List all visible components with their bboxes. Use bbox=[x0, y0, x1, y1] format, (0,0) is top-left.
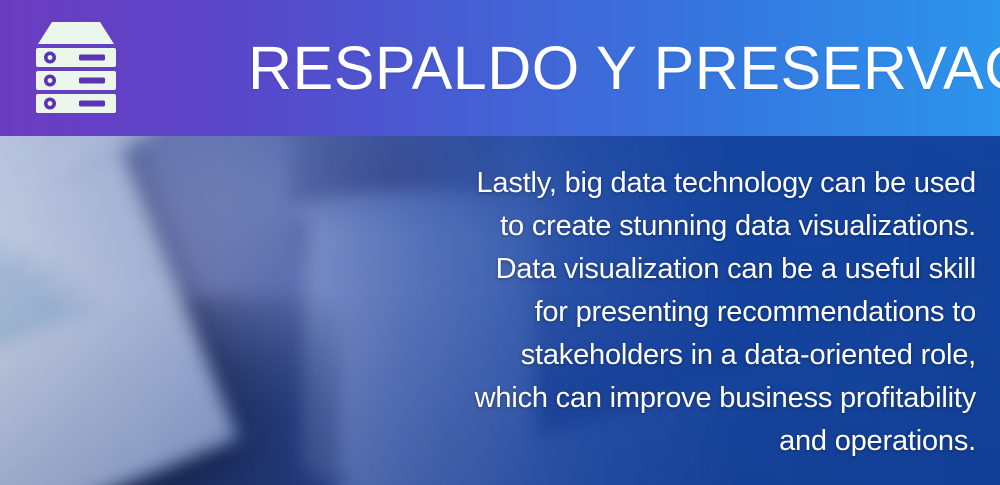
paragraph-line: stakeholders in a data-oriented role, bbox=[376, 334, 976, 377]
body-paragraph: Lastly, big data technology can be used … bbox=[376, 162, 976, 463]
paragraph-line: which can improve business profitability bbox=[376, 377, 976, 420]
content-area: Lastly, big data technology can be used … bbox=[0, 136, 1000, 485]
paragraph-line: Lastly, big data technology can be used bbox=[376, 162, 976, 205]
server-stack-icon bbox=[24, 18, 128, 118]
paragraph-line: to create stunning data visualizations. bbox=[376, 205, 976, 248]
page-title: RESPALDO Y PRESERVACIÓN bbox=[248, 0, 1000, 136]
paragraph-line: and operations. bbox=[376, 420, 976, 463]
paragraph-line: for presenting recommendations to bbox=[376, 291, 976, 334]
header-band: RESPALDO Y PRESERVACIÓN bbox=[0, 0, 1000, 136]
paragraph-line: Data visualization can be a useful skill bbox=[376, 248, 976, 291]
slide-root: RESPALDO Y PRESERVACIÓN Lastl bbox=[0, 0, 1000, 485]
